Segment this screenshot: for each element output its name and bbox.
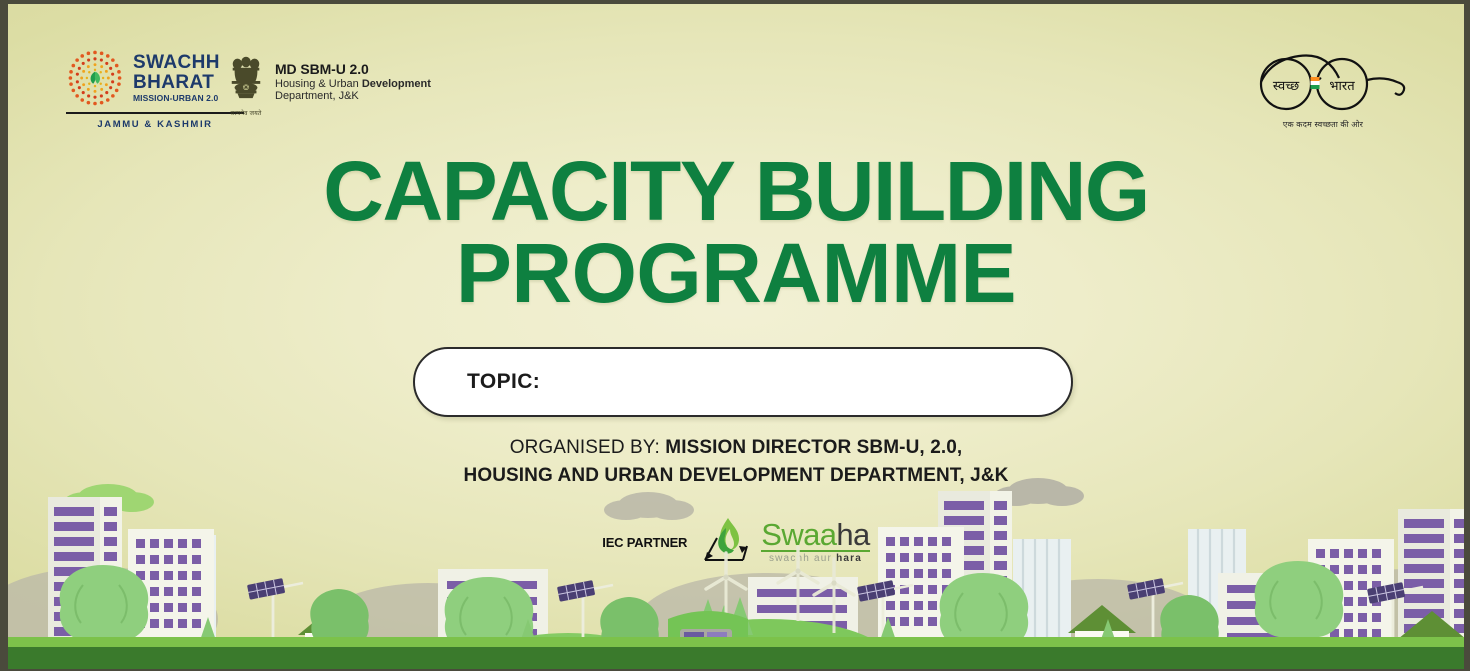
ground-highlight (8, 637, 1464, 647)
slide-header: SWACHH BHARAT MISSION-URBAN 2.0 JAMMU & … (8, 4, 1464, 139)
md-sbm-subtitle-bold: Development (362, 78, 431, 90)
md-sbm-title: MD SBM-U 2.0 (275, 61, 431, 78)
title-line-2: PROGRAMME (8, 232, 1464, 314)
gandhi-left-lens-text: स्वच्छ (1273, 79, 1300, 94)
topic-field[interactable]: TOPIC: (413, 347, 1073, 417)
organised-by-line-1: ORGANISED BY: MISSION DIRECTOR SBM-U, 2.… (8, 434, 1464, 462)
title-line-1: CAPACITY BUILDING (8, 150, 1464, 232)
swachh-bharat-line2: BHARAT (133, 73, 220, 92)
swachh-bharat-line3: MISSION-URBAN 2.0 (133, 94, 220, 103)
md-sbm-logo: सत्यमेव जयते MD SBM-U 2.0 Housing & Urba… (224, 54, 431, 117)
organised-by-prefix: ORGANISED BY: (510, 437, 660, 458)
swachh-bharat-logo: SWACHH BHARAT MISSION-URBAN 2.0 JAMMU & … (66, 49, 244, 130)
gandhi-caption: एक कदम स्वच्छता की ओर (1238, 119, 1408, 130)
ground-strip (8, 647, 1464, 669)
gandhi-spectacles-logo: स्वच्छ भारत एक कदम स्वच्छता की ओर (1238, 46, 1408, 128)
swachh-bharat-circular-dots-icon (66, 49, 124, 107)
emblem-caption: सत्यमेव जयते (230, 109, 261, 117)
presentation-slide: SWACHH BHARAT MISSION-URBAN 2.0 JAMMU & … (0, 0, 1470, 671)
gandhi-right-lens-text: भारत (1329, 79, 1355, 94)
topic-label: TOPIC: (467, 370, 540, 394)
gandhi-spectacles-icon: स्वच्छ भारत (1238, 46, 1408, 118)
eco-city-skyline-illustration (8, 469, 1464, 669)
india-national-emblem-ashoka-lion-capital-icon (227, 54, 265, 108)
md-sbm-subtitle-line1: Housing & Urban Development (275, 78, 431, 91)
slide-canvas: SWACHH BHARAT MISSION-URBAN 2.0 JAMMU & … (8, 4, 1464, 669)
swachh-bharat-line1: SWACHH (133, 53, 220, 72)
md-sbm-subtitle-regular: Housing & Urban (275, 78, 362, 90)
page-title: CAPACITY BUILDING PROGRAMME (8, 150, 1464, 315)
divider (66, 112, 244, 114)
swachh-bharat-state-label: JAMMU & KASHMIR (66, 119, 244, 130)
md-sbm-subtitle-line2: Department, J&K (275, 90, 431, 103)
organiser-name: MISSION DIRECTOR SBM-U, 2.0, (665, 437, 962, 458)
